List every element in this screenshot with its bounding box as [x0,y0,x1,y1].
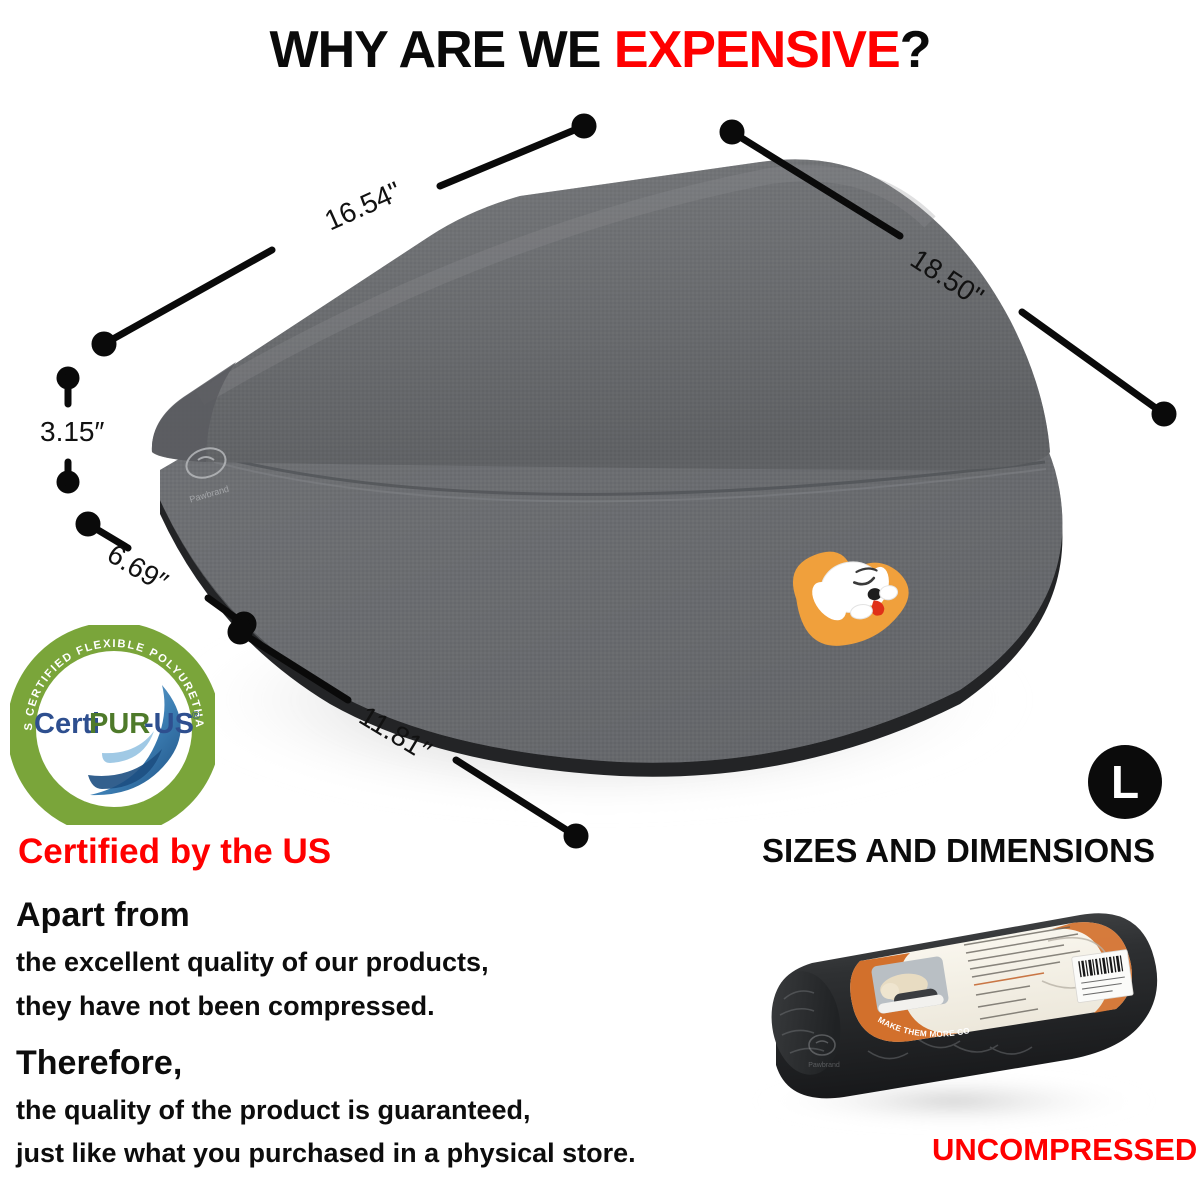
dimension-label-width-top: 16.54" [320,175,406,237]
uncompressed-package-illustration: MAKE THEM MORE COMFORTABLE [718,895,1200,1135]
copy-lead-2: Therefore, [16,1043,816,1083]
dimension-leader-16-54 [95,117,593,353]
badge-center-wordmark: Certi PUR -US ® [34,708,200,740]
svg-text:PUR: PUR [89,708,150,740]
svg-text:Pawbrand: Pawbrand [188,484,230,505]
uncompressed-caption: UNCOMPRESSED [932,1132,1197,1168]
product-shadow [170,580,1030,820]
certipur-us-badge: CONTAINS CERTIFIED FLEXIBLE POLYURETHANE… [10,625,215,825]
infographic-page: WHY ARE WE EXPENSIVE? [0,0,1200,1200]
title-text-main: WHY ARE WE [270,21,614,79]
copy-line-4: just like what you purchased in a physic… [16,1132,816,1176]
svg-text:-US: -US [144,708,194,740]
svg-text:®: ® [192,710,200,722]
svg-text:Pawbrand: Pawbrand [808,1062,840,1069]
title-text-tail: ? [900,21,931,79]
certified-by-us-heading: Certified by the US [18,832,331,872]
copy-lead-1: Apart from [16,895,816,935]
bed-base [160,300,1062,777]
page-title: WHY ARE WE EXPENSIVE? [0,20,1200,80]
dog-embroidery-icon [788,539,916,652]
bed-bolster [152,159,1050,470]
dimension-label-height: 3.15″ [40,416,104,448]
title-text-accent: EXPENSIVE [614,21,900,79]
dimension-label-depth-right: 18.50" [905,243,990,313]
copy-line-1: the excellent quality of our products, [16,941,816,985]
brand-embroidery-logo: Pawbrand [183,444,230,505]
dimension-label-front-width: 11.81″ [354,700,437,768]
dimension-label-front-left: 6.69″ [102,538,174,599]
copy-line-2: they have not been compressed. [16,985,816,1029]
sizes-and-dimensions-heading: SIZES AND DIMENSIONS [762,832,1155,870]
copy-line-3: the quality of the product is guaranteed… [16,1089,816,1133]
package-barcode-sticker [1072,949,1134,1002]
size-badge-large: L [1088,745,1162,819]
body-copy-block: Apart from the excellent quality of our … [16,895,816,1176]
